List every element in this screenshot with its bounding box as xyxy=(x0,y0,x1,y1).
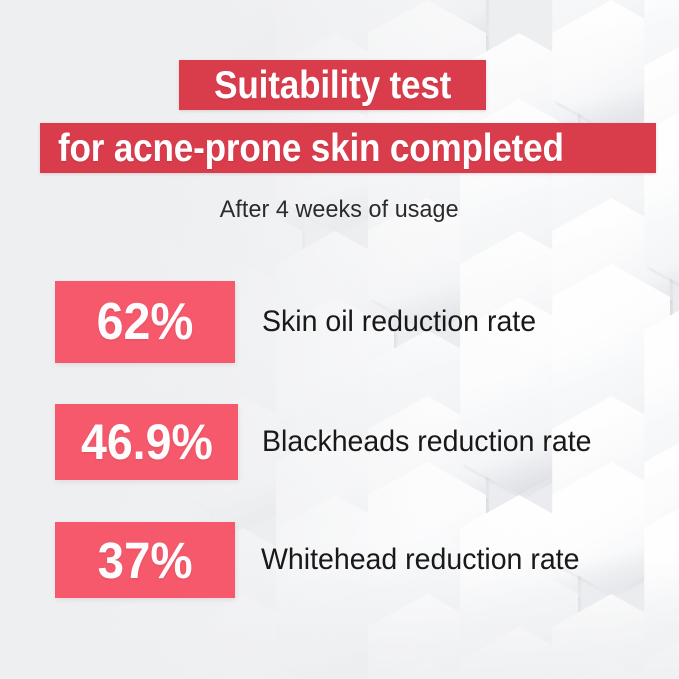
stat-label-text: Whitehead reduction rate xyxy=(261,545,579,575)
stat-value-box: 62% xyxy=(55,281,235,363)
stat-value-text: 62% xyxy=(97,296,194,348)
stat-label: Skin oil reduction rate xyxy=(262,307,551,337)
headline-banner-line1: Suitability test xyxy=(179,60,486,110)
stat-row: 37% Whitehead reduction rate xyxy=(55,522,635,598)
stat-label: Blackheads reduction rate xyxy=(262,427,609,457)
stat-value-box: 37% xyxy=(55,522,235,598)
stat-label-text: Skin oil reduction rate xyxy=(262,307,536,337)
stat-value-text: 46.9% xyxy=(81,417,213,467)
stat-value-text: 37% xyxy=(98,535,193,586)
stat-row: 46.9% Blackheads reduction rate xyxy=(55,404,635,480)
stat-value-box: 46.9% xyxy=(55,404,238,480)
infographic-content: Suitability test for acne-prone skin com… xyxy=(0,0,679,679)
stat-row: 62% Skin oil reduction rate xyxy=(55,281,635,363)
infographic-canvas: Suitability test for acne-prone skin com… xyxy=(0,0,679,679)
headline-line1-text: Suitability test xyxy=(214,66,451,105)
subtitle-text: After 4 weeks of usage xyxy=(220,196,459,224)
subtitle: After 4 weeks of usage xyxy=(0,196,679,224)
headline-line2-text: for acne-prone skin completed xyxy=(58,129,564,168)
headline-banner-line2: for acne-prone skin completed xyxy=(40,123,656,173)
stat-label: Whitehead reduction rate xyxy=(261,545,596,575)
stat-label-text: Blackheads reduction rate xyxy=(262,427,592,457)
